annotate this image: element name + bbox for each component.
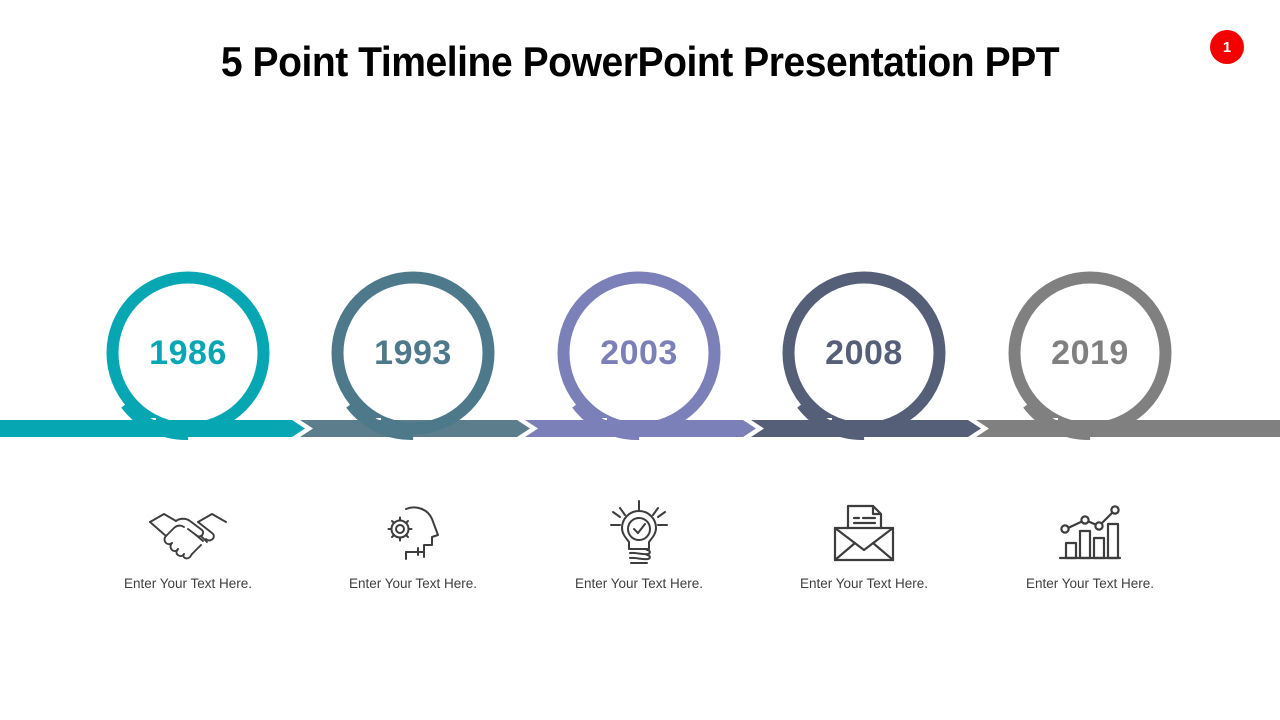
head-gear-icon [313,498,513,570]
timeline-caption-5: Enter Your Text Here. [990,576,1190,591]
timeline-item-2: Enter Your Text Here. [313,498,513,591]
timeline-year-1986: 1986 [103,334,273,373]
envelope-letter-icon [764,498,964,570]
timeline-caption-4: Enter Your Text Here. [764,576,964,591]
timeline-item-1: Enter Your Text Here. [88,498,288,591]
timeline-year-2008: 2008 [779,334,949,373]
handshake-icon [88,498,288,570]
timeline-caption-3: Enter Your Text Here. [539,576,739,591]
timeline-caption-1: Enter Your Text Here. [88,576,288,591]
timeline-year-1993: 1993 [328,334,498,373]
timeline-item-3: Enter Your Text Here. [539,498,739,591]
lightbulb-check-icon [539,498,739,570]
bar-chart-growth-icon [990,498,1190,570]
timeline-caption-2: Enter Your Text Here. [313,576,513,591]
timeline-year-2019: 2019 [1005,334,1175,373]
timeline-item-4: Enter Your Text Here. [764,498,964,591]
timeline-item-5: Enter Your Text Here. [990,498,1190,591]
timeline-year-2003: 2003 [554,334,724,373]
